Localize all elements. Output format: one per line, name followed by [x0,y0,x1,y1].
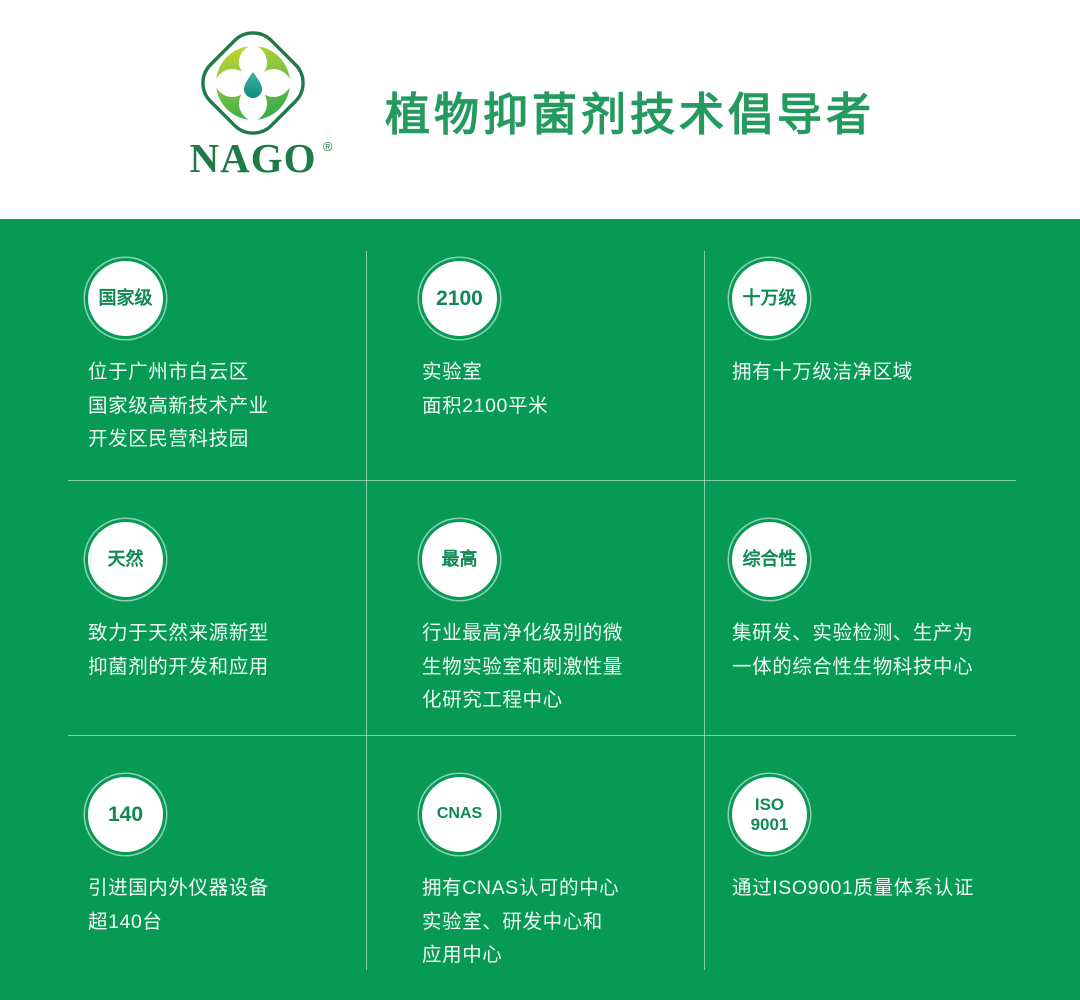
brand-logo-block: NAGO ® [168,24,338,194]
feature-badge-label: 国家级 [99,289,153,307]
feature-badge: CNAS [422,777,497,852]
feature-badge-label: 最高 [442,550,478,568]
feature-badge-label: CNAS [437,806,482,822]
feature-badge: 国家级 [88,261,163,336]
feature-badge: ISO 9001 [732,777,807,852]
grid-horizontal-divider [68,735,1016,736]
feature-cell: ISO 9001 通过ISO9001质量体系认证 [704,735,1080,1000]
feature-badge-label: 综合性 [743,550,797,568]
feature-badge: 最高 [422,522,497,597]
feature-description: 拥有CNAS认可的中心 实验室、研发中心和 应用中心 [422,872,619,973]
feature-badge-label: ISO 9001 [751,795,789,833]
grid-vertical-divider [366,251,367,970]
features-panel: 国家级 位于广州市白云区 国家级高新技术产业 开发区民营科技园 2100 实验室… [0,219,1080,1000]
page-header: NAGO ® 植物抑菌剂技术倡导者 [0,0,1080,219]
registered-trademark-icon: ® [323,140,334,153]
feature-description: 拥有十万级洁净区域 [732,356,913,390]
feature-badge-label: 2100 [436,288,483,309]
brand-name-text: NAGO [190,135,317,181]
feature-badge-label: 天然 [108,550,144,568]
feature-badge-label: 140 [108,804,143,825]
feature-cell: 国家级 位于广州市白云区 国家级高新技术产业 开发区民营科技园 [0,219,366,480]
feature-badge: 140 [88,777,163,852]
feature-cell: 140 引进国内外仪器设备 超140台 [0,735,366,1000]
feature-cell: 十万级 拥有十万级洁净区域 [704,219,1080,480]
feature-badge: 天然 [88,522,163,597]
brand-wordmark: NAGO ® [190,138,317,179]
feature-cell: 天然 致力于天然来源新型 抑菌剂的开发和应用 [0,480,366,735]
feature-description: 集研发、实验检测、生产为 一体的综合性生物科技中心 [732,617,973,684]
feature-badge: 十万级 [732,261,807,336]
feature-description: 通过ISO9001质量体系认证 [732,872,974,906]
feature-badge-label: 十万级 [743,289,797,307]
feature-description: 实验室 面积2100平米 [422,356,548,423]
feature-cell: 综合性 集研发、实验检测、生产为 一体的综合性生物科技中心 [704,480,1080,735]
feature-cell: CNAS 拥有CNAS认可的中心 实验室、研发中心和 应用中心 [366,735,704,1000]
grid-vertical-divider [704,251,705,970]
feature-cell: 最高 行业最高净化级别的微 生物实验室和刺激性量 化研究工程中心 [366,480,704,735]
feature-description: 行业最高净化级别的微 生物实验室和刺激性量 化研究工程中心 [422,617,623,718]
page-title: 植物抑菌剂技术倡导者 [385,92,875,137]
feature-description: 致力于天然来源新型 抑菌剂的开发和应用 [88,617,269,684]
nago-flower-logo-icon [194,24,312,142]
features-grid: 国家级 位于广州市白云区 国家级高新技术产业 开发区民营科技园 2100 实验室… [0,219,1080,1000]
grid-horizontal-divider [68,480,1016,481]
feature-description: 引进国内外仪器设备 超140台 [88,872,269,939]
feature-badge: 综合性 [732,522,807,597]
feature-badge: 2100 [422,261,497,336]
feature-description: 位于广州市白云区 国家级高新技术产业 开发区民营科技园 [88,356,269,457]
feature-cell: 2100 实验室 面积2100平米 [366,219,704,480]
